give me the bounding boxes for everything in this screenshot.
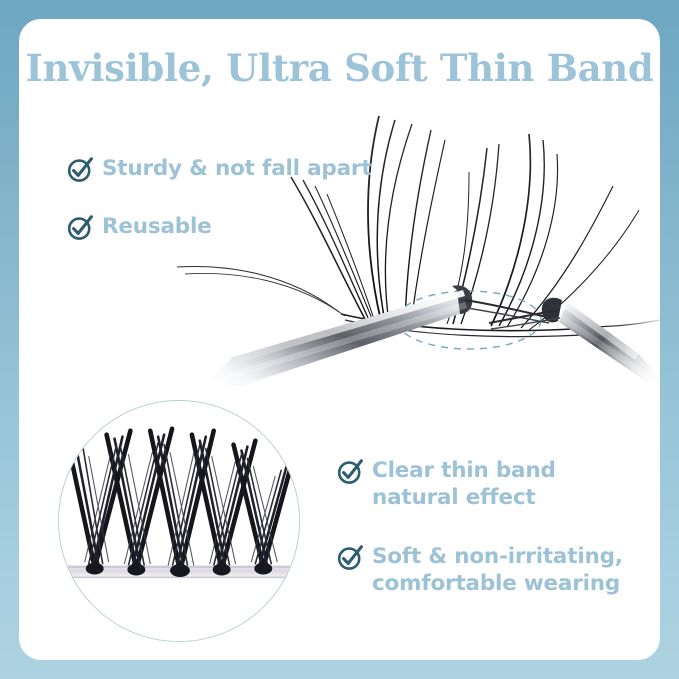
product-infographic-poster: Invisible, Ultra Soft Thin Band xyxy=(0,0,679,679)
feature-item-clear-thin-band: Clear thin band natural effect xyxy=(337,457,556,511)
check-circle-icon xyxy=(337,545,363,571)
feature-label: Soft & non-irritating, comfortable weari… xyxy=(372,543,623,597)
check-circle-icon xyxy=(67,215,93,241)
feature-item-reusable: Reusable xyxy=(67,213,212,241)
feature-item-sturdy: Sturdy & not fall apart xyxy=(67,155,371,183)
lash-band-macro-inset xyxy=(58,400,300,642)
left-tweezer xyxy=(169,285,549,386)
check-circle-icon xyxy=(67,157,93,183)
feature-item-soft-non-irritating: Soft & non-irritating, comfortable weari… xyxy=(337,543,623,597)
feature-label: Sturdy & not fall apart xyxy=(102,155,371,182)
feature-label: Clear thin band natural effect xyxy=(372,457,556,511)
feature-label: Reusable xyxy=(102,213,212,240)
check-circle-icon xyxy=(337,459,363,485)
page-title: Invisible, Ultra Soft Thin Band xyxy=(19,46,660,90)
white-content-card: Invisible, Ultra Soft Thin Band xyxy=(19,19,660,660)
